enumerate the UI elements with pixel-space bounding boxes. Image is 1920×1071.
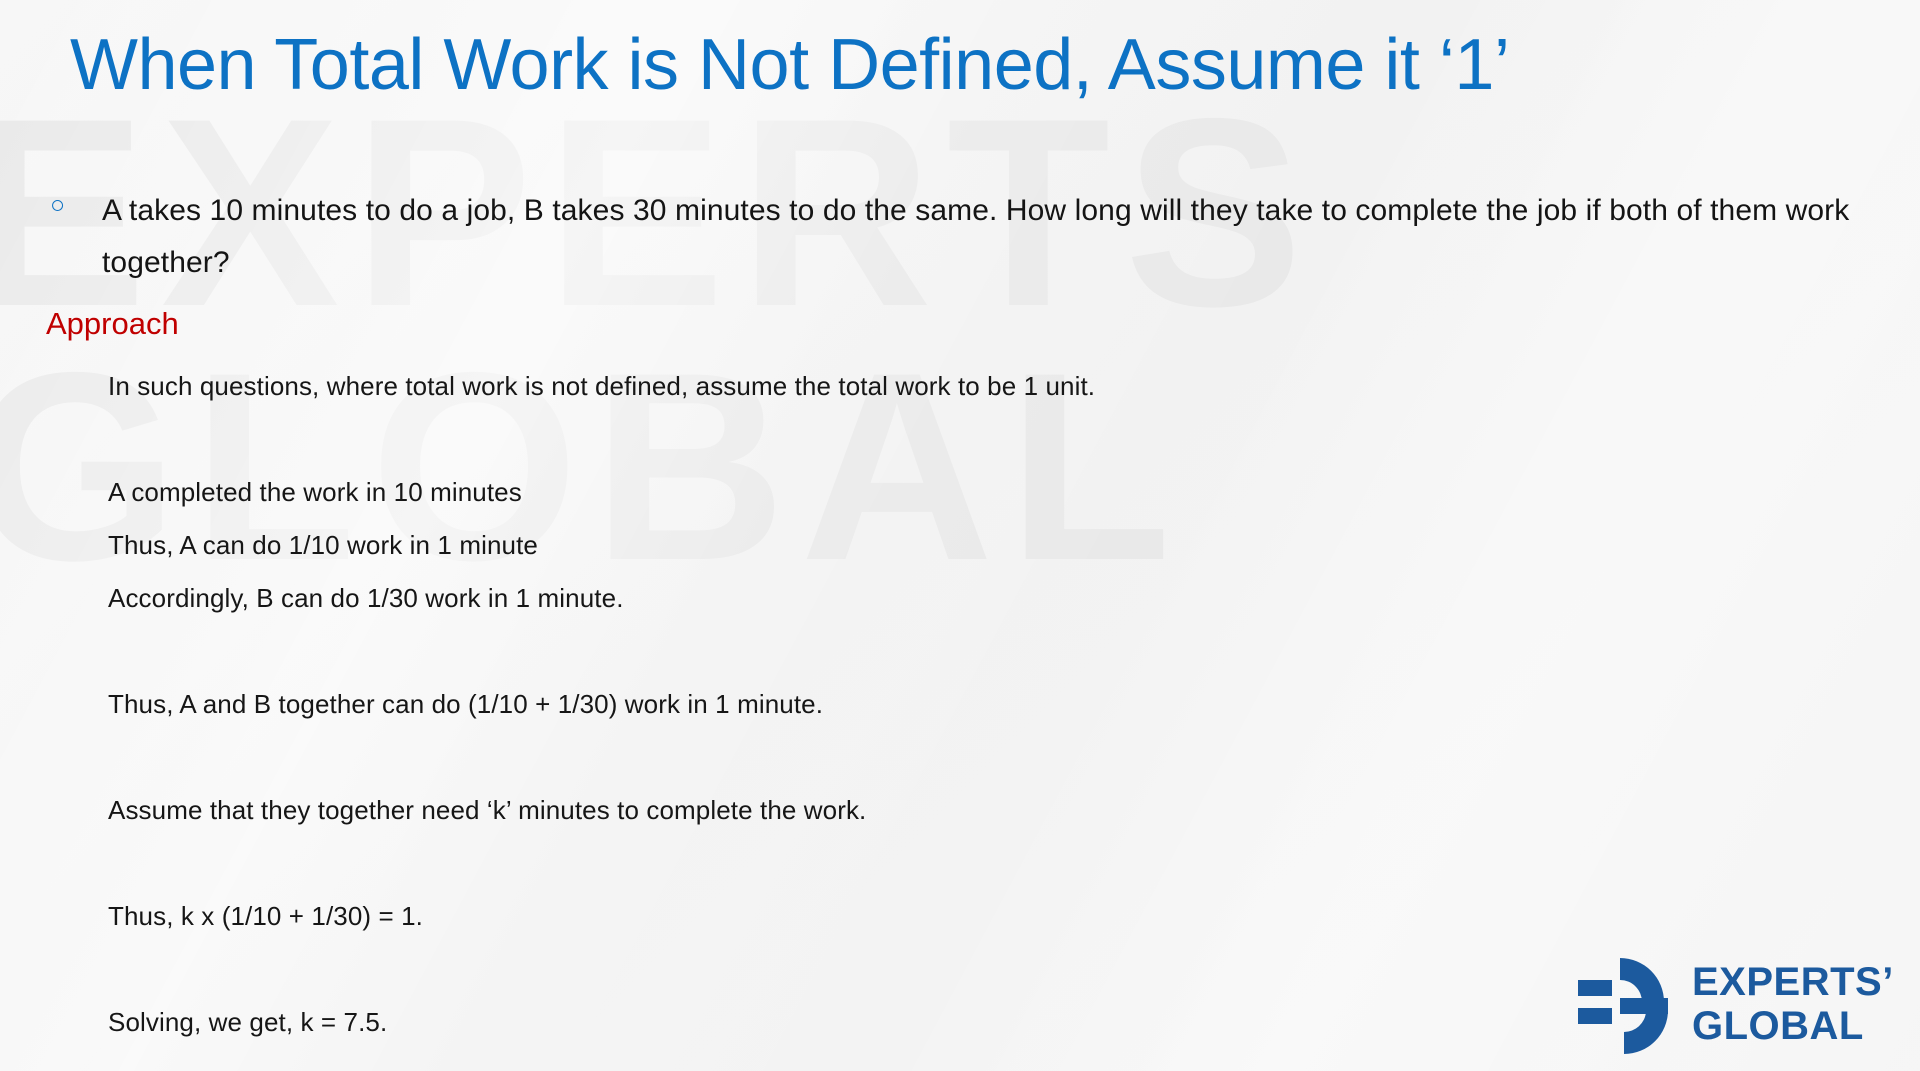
approach-line: In such questions, where total work is n… <box>108 360 1808 413</box>
approach-line: Accordingly, B can do 1/30 work in 1 min… <box>108 572 1808 625</box>
hollow-circle-bullet-icon: ○ <box>46 185 102 225</box>
question-bullet-item: ○ A takes 10 minutes to do a job, B take… <box>46 185 1886 289</box>
logo-word-global: GLOBAL <box>1692 1004 1894 1048</box>
approach-heading: Approach <box>46 305 179 342</box>
approach-line-spacer <box>108 943 1808 996</box>
approach-line: Thus, A can do 1/10 work in 1 minute <box>108 519 1808 572</box>
approach-line: Thus, A and B together can do (1/10 + 1/… <box>108 678 1808 731</box>
approach-line-spacer <box>108 837 1808 890</box>
experts-global-logo: EXPERTS’ GLOBAL <box>1572 950 1892 1058</box>
presentation-slide: EXPERTS GLOBAL When Total Work is Not De… <box>0 0 1920 1071</box>
approach-line: Solving, we get, k = 7.5. <box>108 996 1808 1049</box>
logo-word-experts: EXPERTS’ <box>1692 960 1894 1004</box>
approach-line: Assume that they together need ‘k’ minut… <box>108 784 1808 837</box>
approach-line-spacer <box>108 625 1808 678</box>
approach-line: Thus, k x (1/10 + 1/30) = 1. <box>108 890 1808 943</box>
approach-line-spacer <box>108 1049 1808 1071</box>
approach-line: A completed the work in 10 minutes <box>108 466 1808 519</box>
question-text: A takes 10 minutes to do a job, B takes … <box>102 185 1886 289</box>
slide-content: When Total Work is Not Defined, Assume i… <box>0 0 1920 1071</box>
page-title: When Total Work is Not Defined, Assume i… <box>70 26 1870 105</box>
approach-line-spacer <box>108 731 1808 784</box>
approach-line-spacer <box>108 413 1808 466</box>
logo-wordmark: EXPERTS’ GLOBAL <box>1692 960 1894 1048</box>
approach-body: In such questions, where total work is n… <box>108 360 1808 1071</box>
experts-global-g-mark-icon <box>1572 954 1680 1054</box>
